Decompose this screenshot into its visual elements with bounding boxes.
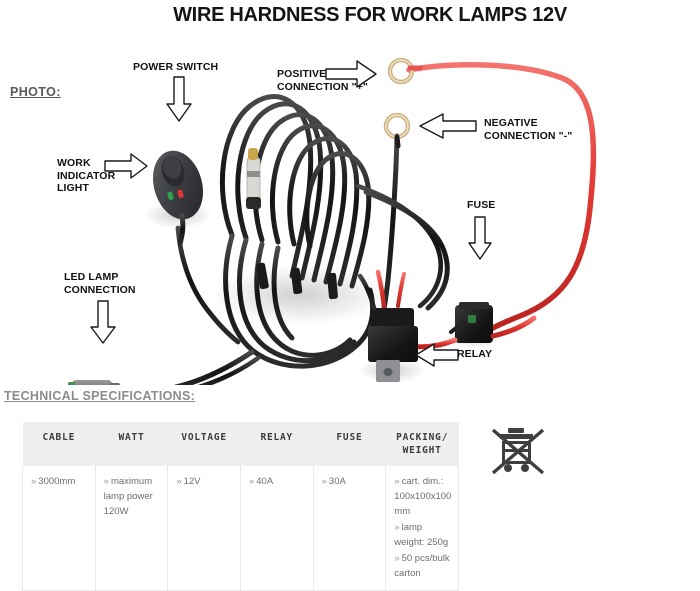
column-header-watt: WATT — [95, 422, 168, 466]
cell-item: »30A — [322, 474, 379, 489]
cell-value: cart. dim.: 100x100x100 mm — [394, 476, 451, 517]
column-header-packing-weight: PACKING/ WEIGHT — [386, 422, 459, 466]
column-header-voltage: VOLTAGE — [168, 422, 241, 466]
weee-bin-icon — [487, 420, 549, 482]
wire-to-led-connector — [142, 352, 252, 385]
cell-item: »cart. dim.: 100x100x100 mm — [394, 474, 451, 519]
wire-black-negative — [383, 136, 397, 316]
cell-value: 40A — [256, 476, 273, 487]
bullet-icon: » — [176, 476, 181, 487]
cell-item: »3000mm — [31, 474, 88, 489]
cell-item: »lamp weight: 250g — [394, 520, 451, 550]
column-header-relay: RELAY — [240, 422, 313, 466]
cell-value: 12V — [184, 476, 201, 487]
cell-value: maximum lamp power 120W — [104, 476, 153, 517]
callout-led-lamp-connection-label: LED LAMP CONNECTION — [64, 271, 136, 296]
column-header-fuse: FUSE — [313, 422, 386, 466]
arrow-right-work-indicator-light — [104, 153, 148, 179]
bullet-icon: » — [31, 476, 36, 487]
arrow-left-relay — [415, 343, 459, 367]
arrow-left-negative-connection — [419, 113, 477, 139]
specifications-table: CABLE WATT VOLTAGE RELAY FUSE PACKING/ W… — [22, 422, 459, 591]
led-lamp-connector-component — [68, 380, 166, 385]
ring-terminal-negative — [386, 115, 408, 146]
page-title: WIRE HARDNESS FOR WORK LAMPS 12V — [0, 4, 700, 27]
cell-item: »50 pcs/bulk carton — [394, 551, 451, 581]
cell-value: 50 pcs/bulk carton — [394, 553, 449, 579]
wire-bundle-loops — [222, 97, 368, 286]
callout-power-switch-label: POWER SWITCH — [133, 61, 218, 74]
document-page: WIRE HARDNESS FOR WORK LAMPS 12V PHOTO: — [0, 0, 700, 572]
arrow-down-power-switch — [166, 76, 192, 122]
cell-item: »40A — [249, 474, 306, 489]
cell-item: »12V — [176, 474, 233, 489]
tech-specs-label: TECHNICAL SPECIFICATIONS: — [4, 389, 195, 403]
arrow-right-positive-connection — [325, 60, 377, 88]
bullet-icon: » — [249, 476, 254, 487]
callout-relay-label: RELAY — [457, 348, 492, 361]
bullet-icon: » — [104, 476, 109, 487]
cell-value: lamp weight: 250g — [394, 522, 448, 548]
cell-value: 3000mm — [38, 476, 75, 487]
bullet-icon: » — [322, 476, 327, 487]
table-header-row: CABLE WATT VOLTAGE RELAY FUSE PACKING/ W… — [23, 422, 459, 466]
bullet-icon: » — [394, 476, 399, 487]
callout-fuse-label: FUSE — [467, 199, 495, 212]
callout-negative-connection-label: NEGATIVE CONNECTION "-" — [484, 117, 572, 142]
arrow-down-fuse — [468, 216, 492, 260]
arrow-down-led-lamp-connection — [90, 300, 116, 344]
column-header-cable: CABLE — [23, 422, 96, 466]
bullet-icon: » — [394, 553, 399, 564]
bullet-icon: » — [394, 522, 399, 533]
wire-red-positive — [409, 65, 593, 332]
cell-value: 30A — [329, 476, 346, 487]
cell-item: »maximum lamp power 120W — [104, 474, 161, 519]
